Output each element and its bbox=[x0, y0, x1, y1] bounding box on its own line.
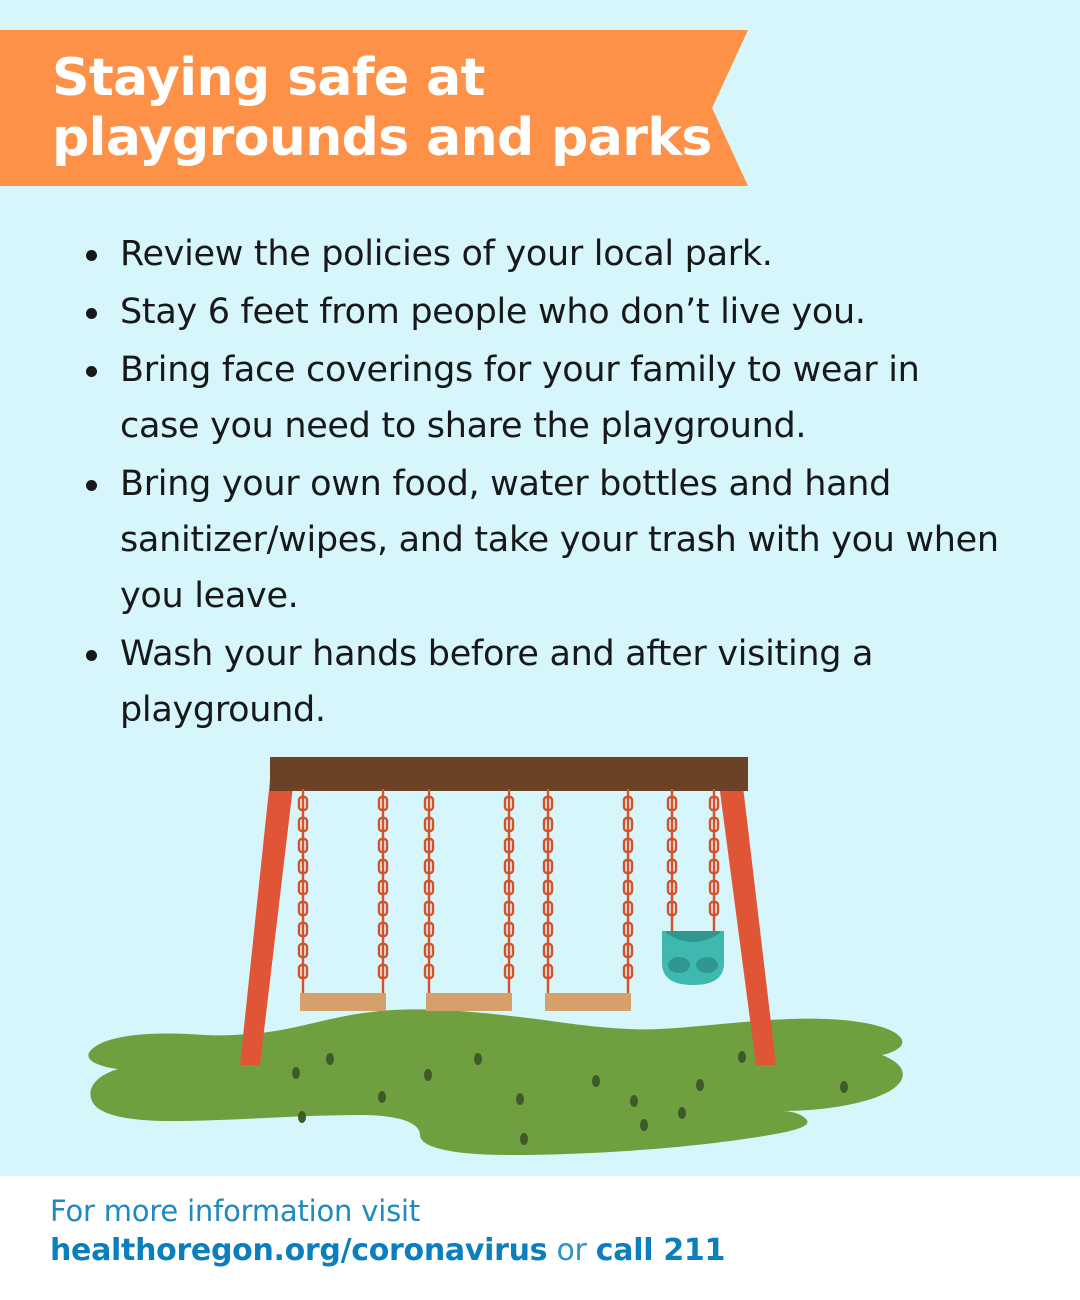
bucket-leg-hole-right bbox=[696, 957, 718, 973]
swing-frame-right-leg bbox=[716, 761, 776, 1065]
list-item-text: Stay 6 feet from people who don’t live y… bbox=[120, 292, 866, 332]
page-title: Staying safe at playgrounds and parks bbox=[52, 48, 712, 168]
swing-frame-left-leg bbox=[240, 761, 296, 1065]
swing-seat bbox=[545, 993, 631, 1011]
footer-contact-block: For more information visit healthoregon.… bbox=[50, 1192, 750, 1272]
grass-patch-icon bbox=[88, 1009, 902, 1155]
footer: For more information visit healthoregon.… bbox=[0, 1176, 1080, 1300]
footer-conjunction: or bbox=[547, 1233, 596, 1268]
footer-prompt: For more information visit bbox=[50, 1192, 750, 1230]
swing-flat-1 bbox=[299, 789, 387, 1011]
poster: Staying safe at playgrounds and parks Re… bbox=[0, 0, 1080, 1300]
list-item: Bring face coverings for your family to … bbox=[74, 342, 1004, 454]
bullet-dot-icon bbox=[86, 366, 97, 377]
bucket-leg-hole-left bbox=[668, 957, 690, 973]
footer-contact-line: healthoregon.org/coronavirus or call 211 bbox=[50, 1230, 750, 1272]
safety-tips-list: Review the policies of your local park. … bbox=[74, 226, 1004, 740]
swing-flat-3 bbox=[544, 789, 632, 1011]
swing-set-illustration bbox=[0, 735, 1080, 1165]
list-item: Wash your hands before and after visitin… bbox=[74, 626, 1004, 738]
list-item-text: Review the policies of your local park. bbox=[120, 234, 773, 274]
list-item-text: Bring face coverings for your family to … bbox=[120, 350, 920, 446]
list-item-text: Bring your own food, water bottles and h… bbox=[120, 464, 999, 616]
list-item: Bring your own food, water bottles and h… bbox=[74, 456, 1004, 624]
header-banner: Staying safe at playgrounds and parks bbox=[0, 30, 748, 186]
bullet-dot-icon bbox=[86, 480, 97, 491]
bullet-dot-icon bbox=[86, 250, 97, 261]
swing-flat-2 bbox=[425, 789, 513, 1011]
swing-frame-top-beam bbox=[270, 757, 748, 791]
phone-number[interactable]: call 211 bbox=[596, 1233, 725, 1268]
bullet-dot-icon bbox=[86, 308, 97, 319]
bullet-dot-icon bbox=[86, 650, 97, 661]
swing-seat bbox=[300, 993, 386, 1011]
list-item-text: Wash your hands before and after visitin… bbox=[120, 634, 873, 730]
swing-bucket-4 bbox=[662, 789, 724, 985]
list-item: Stay 6 feet from people who don’t live y… bbox=[74, 284, 1004, 340]
list-item: Review the policies of your local park. bbox=[74, 226, 1004, 282]
swing-seat bbox=[426, 993, 512, 1011]
coronavirus-url-link[interactable]: healthoregon.org/coronavirus bbox=[50, 1233, 547, 1268]
